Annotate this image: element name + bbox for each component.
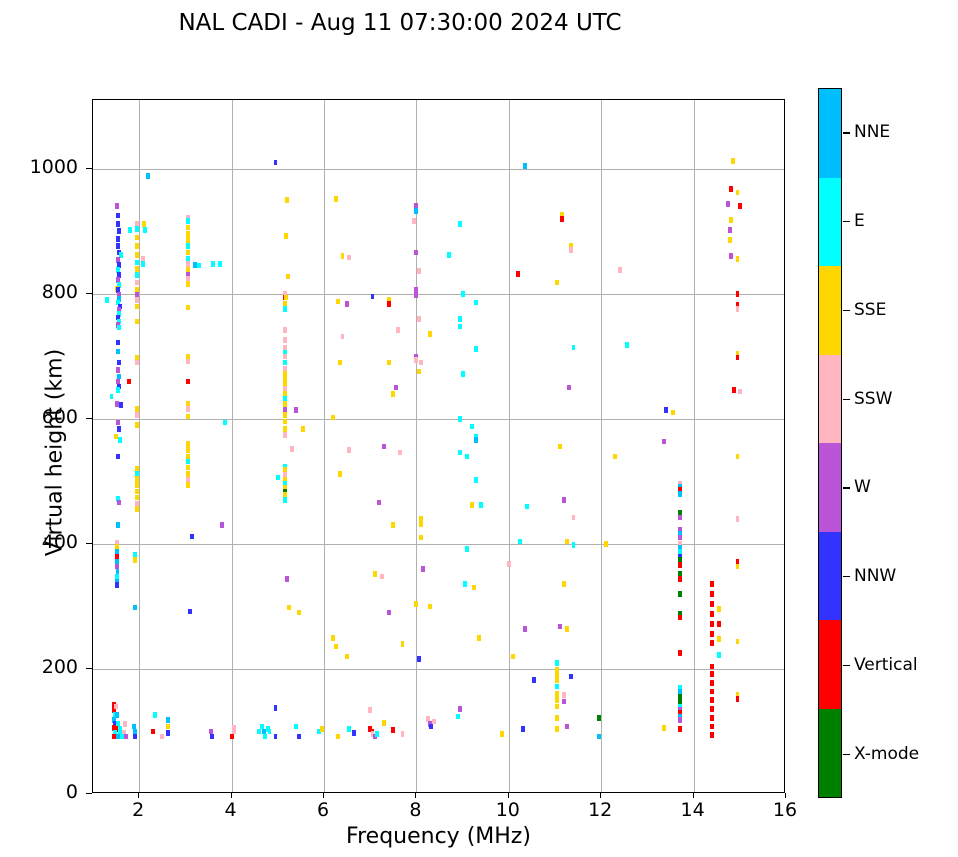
echo-point — [117, 360, 121, 366]
echo-point — [197, 263, 201, 269]
echo-point — [276, 475, 280, 481]
echo-point — [117, 500, 121, 506]
echo-point — [736, 355, 740, 361]
gridline-horizontal — [93, 419, 784, 420]
echo-point — [500, 731, 504, 737]
echo-point — [186, 482, 190, 488]
echo-point — [710, 631, 714, 637]
echo-point — [338, 471, 342, 477]
echo-point — [728, 227, 732, 233]
echo-point — [562, 581, 566, 587]
echo-point — [710, 591, 714, 597]
colorbar — [818, 88, 842, 798]
gridline-vertical — [694, 100, 695, 792]
echo-point — [507, 561, 511, 567]
echo-point — [678, 535, 682, 541]
echo-point — [710, 680, 714, 686]
echo-point — [678, 491, 682, 497]
x-axis-title: Frequency (MHz) — [92, 824, 785, 849]
echo-point — [334, 196, 338, 202]
x-axis-tick — [600, 793, 601, 798]
echo-point — [116, 367, 120, 373]
echo-point — [625, 342, 629, 348]
echo-point — [135, 243, 139, 249]
echo-point — [516, 271, 520, 277]
echo-point — [285, 197, 289, 203]
echo-point — [135, 422, 139, 428]
echo-point — [736, 564, 740, 570]
colorbar-tick — [843, 665, 850, 666]
echo-point — [736, 256, 740, 262]
echo-point — [572, 515, 576, 521]
echo-point — [294, 724, 298, 730]
echo-point — [729, 217, 733, 223]
echo-point — [283, 419, 287, 425]
echo-point — [133, 605, 137, 611]
x-axis-tick — [138, 793, 139, 798]
echo-point — [117, 426, 121, 432]
echo-point — [525, 504, 529, 510]
echo-point — [117, 228, 121, 234]
echo-point — [717, 652, 721, 658]
echo-point — [662, 439, 666, 445]
echo-point — [141, 261, 145, 267]
echo-point — [119, 402, 123, 408]
x-axis-tick — [323, 793, 324, 798]
echo-point — [223, 420, 227, 426]
echo-point — [618, 267, 622, 273]
echo-point — [678, 562, 682, 568]
echo-point — [210, 734, 214, 740]
echo-point — [710, 581, 714, 587]
echo-point — [297, 734, 301, 740]
echo-point — [135, 280, 139, 286]
echo-point — [334, 644, 338, 650]
x-axis-tick-label: 8 — [385, 799, 445, 821]
echo-point — [283, 401, 287, 407]
echo-point — [555, 660, 559, 666]
echo-point — [414, 601, 418, 607]
echo-point — [128, 227, 132, 233]
echo-point — [604, 541, 608, 547]
x-axis-tick-label: 12 — [570, 799, 630, 821]
echo-point — [186, 218, 190, 224]
echo-point — [331, 415, 335, 421]
echo-point — [565, 724, 569, 730]
echo-point — [479, 502, 483, 508]
echo-point — [417, 656, 421, 662]
echo-point — [567, 385, 571, 391]
colorbar-segment-vertical — [819, 620, 841, 709]
echo-point — [401, 731, 405, 737]
echo-point — [151, 729, 155, 735]
echo-point — [371, 294, 375, 300]
colorbar-segment-w — [819, 443, 841, 532]
echo-point — [414, 250, 418, 256]
echo-point — [294, 407, 298, 413]
echo-point — [341, 253, 345, 259]
echo-point — [283, 306, 287, 312]
x-axis-tick-label: 14 — [663, 799, 723, 821]
echo-point — [398, 450, 402, 456]
echo-point — [116, 349, 120, 355]
colorbar-tick — [843, 487, 850, 488]
echo-point — [428, 604, 432, 610]
gridline-horizontal — [93, 669, 784, 670]
x-axis-tick-label: 16 — [755, 799, 815, 821]
colorbar-segment-x-mode — [819, 709, 841, 798]
y-axis-tick — [86, 793, 92, 794]
echo-point — [710, 621, 714, 627]
echo-point — [387, 360, 391, 366]
echo-point — [135, 260, 139, 266]
echo-point — [297, 610, 301, 616]
echo-point — [555, 726, 559, 732]
echo-point — [347, 255, 351, 261]
echo-point — [414, 357, 418, 363]
echo-point — [736, 454, 740, 460]
echo-point — [662, 725, 666, 731]
echo-point — [135, 304, 139, 310]
echo-point — [419, 535, 423, 541]
page-title: NAL CADI - Aug 11 07:30:00 2024 UTC — [0, 10, 800, 36]
echo-point — [736, 639, 740, 645]
echo-point — [391, 391, 395, 397]
gridline-vertical — [324, 100, 325, 792]
echo-point — [562, 699, 566, 705]
echo-point — [283, 327, 287, 333]
echo-point — [153, 712, 157, 718]
echo-point — [555, 677, 559, 683]
echo-point — [301, 426, 305, 432]
echo-point — [518, 539, 522, 545]
echo-point — [419, 360, 423, 366]
echo-point — [283, 337, 287, 343]
echo-point — [135, 506, 139, 512]
echo-point — [731, 158, 735, 164]
echo-point — [146, 173, 150, 179]
echo-point — [562, 692, 566, 698]
echo-point — [188, 609, 192, 615]
echo-point — [257, 729, 261, 735]
x-axis-tick — [415, 793, 416, 798]
echo-point — [419, 521, 423, 527]
echo-point — [738, 389, 742, 395]
echo-point — [613, 454, 617, 460]
colorbar-tick — [843, 576, 850, 577]
echo-point — [465, 546, 469, 552]
echo-point — [710, 671, 714, 677]
echo-point — [597, 734, 601, 740]
echo-point — [678, 717, 682, 723]
echo-point — [320, 726, 324, 732]
echo-point — [373, 571, 377, 577]
echo-point — [417, 316, 421, 322]
echo-point — [116, 522, 120, 528]
echo-point — [387, 301, 391, 307]
echo-point — [284, 233, 288, 239]
echo-point — [283, 354, 287, 360]
echo-point — [456, 714, 460, 720]
echo-point — [116, 387, 120, 393]
colorbar-tick — [843, 754, 850, 755]
echo-point — [230, 734, 234, 740]
echo-point — [274, 160, 278, 166]
ionogram-plot-area — [92, 99, 785, 793]
echo-point — [123, 721, 127, 727]
echo-point — [396, 327, 400, 333]
echo-point — [565, 539, 569, 545]
echo-point — [710, 724, 714, 730]
echo-point — [421, 566, 425, 572]
y-axis-tick — [86, 543, 92, 544]
colorbar-label-ssw: SSW — [854, 389, 892, 409]
echo-point — [345, 301, 349, 307]
echo-point — [458, 221, 462, 227]
echo-point — [391, 727, 395, 733]
echo-point — [472, 585, 476, 591]
echo-point — [678, 515, 682, 521]
echo-point — [186, 261, 190, 267]
echo-point — [458, 706, 462, 712]
echo-point — [572, 542, 576, 548]
echo-point — [116, 243, 120, 249]
echo-point — [268, 729, 272, 735]
echo-point — [417, 369, 421, 375]
echo-point — [135, 495, 139, 501]
x-axis-tick-label: 6 — [293, 799, 353, 821]
echo-point — [474, 477, 478, 483]
echo-point — [562, 497, 566, 503]
echo-point — [193, 262, 197, 268]
echo-point — [283, 432, 287, 438]
colorbar-label-nne: NNE — [854, 122, 890, 142]
echo-point — [470, 424, 474, 430]
echo-point — [414, 208, 418, 214]
echo-point — [274, 734, 278, 740]
echo-point — [458, 324, 462, 330]
echo-point — [135, 266, 139, 272]
echo-point — [521, 726, 525, 732]
echo-point — [135, 476, 139, 482]
echo-point — [105, 297, 109, 303]
echo-point — [463, 581, 467, 587]
echo-point — [710, 732, 714, 738]
gridline-horizontal — [93, 294, 784, 295]
echo-point — [458, 450, 462, 456]
echo-point — [232, 725, 236, 731]
colorbar-tick — [843, 132, 850, 133]
echo-point — [135, 412, 139, 418]
colorbar-segment-nnw — [819, 532, 841, 621]
echo-point — [465, 454, 469, 460]
echo-point — [211, 261, 215, 267]
echo-point — [135, 226, 139, 232]
echo-point — [135, 489, 139, 495]
echo-point — [470, 502, 474, 508]
echo-point — [127, 379, 131, 385]
echo-point — [555, 684, 559, 690]
echo-point — [186, 379, 190, 385]
echo-point — [432, 719, 436, 725]
echo-point — [135, 252, 139, 258]
echo-point — [186, 406, 190, 412]
echo-point — [116, 340, 120, 346]
echo-point — [710, 689, 714, 695]
y-axis-tick — [86, 293, 92, 294]
echo-point — [678, 615, 682, 621]
colorbar-label-sse: SSE — [854, 300, 886, 320]
echo-point — [555, 704, 559, 710]
echo-point — [710, 640, 714, 646]
echo-point — [218, 261, 222, 267]
echo-point — [135, 406, 139, 412]
echo-point — [736, 306, 740, 312]
echo-point — [347, 726, 351, 732]
echo-point — [447, 252, 451, 258]
echo-point — [560, 216, 564, 222]
echo-point — [115, 203, 119, 209]
echo-point — [186, 231, 190, 237]
echo-point — [283, 426, 287, 432]
echo-point — [116, 420, 120, 426]
x-axis-tick — [231, 793, 232, 798]
echo-point — [429, 724, 433, 730]
echo-point — [133, 734, 137, 740]
echo-point — [710, 601, 714, 607]
echo-point — [286, 274, 290, 280]
echo-point — [555, 280, 559, 286]
echo-point — [461, 371, 465, 377]
echo-point — [135, 482, 139, 488]
colorbar-tick — [843, 221, 850, 222]
echo-point — [186, 447, 190, 453]
x-axis-tick — [508, 793, 509, 798]
echo-point — [186, 471, 190, 477]
echo-point — [220, 522, 224, 528]
echo-point — [186, 225, 190, 231]
gridline-vertical — [601, 100, 602, 792]
echo-point — [336, 734, 340, 740]
echo-point — [186, 250, 190, 256]
echo-point — [135, 235, 139, 241]
y-axis-tick — [86, 168, 92, 169]
echo-point — [710, 706, 714, 712]
echo-point — [186, 359, 190, 365]
echo-point — [569, 247, 573, 253]
echo-point — [368, 707, 372, 713]
echo-point — [341, 334, 345, 340]
echo-point — [114, 704, 118, 710]
echo-point — [732, 387, 736, 393]
echo-point — [558, 624, 562, 630]
echo-point — [382, 444, 386, 450]
echo-point — [394, 385, 398, 391]
echo-point — [565, 626, 569, 632]
gridline-vertical — [139, 100, 140, 792]
echo-point — [352, 730, 356, 736]
echo-point — [736, 190, 740, 196]
echo-point — [186, 305, 190, 311]
echo-point — [736, 516, 740, 522]
echo-point — [331, 635, 335, 641]
echo-point — [717, 636, 721, 642]
echo-point — [391, 522, 395, 528]
colorbar-segment-ssw — [819, 355, 841, 444]
colorbar-label-e: E — [854, 211, 865, 231]
colorbar-label-nnw: NNW — [854, 566, 896, 586]
echo-point — [133, 557, 137, 563]
echo-point — [569, 674, 573, 680]
echo-point — [664, 407, 668, 413]
x-axis-tick-label: 4 — [201, 799, 261, 821]
echo-point — [678, 726, 682, 732]
echo-point — [736, 291, 740, 297]
echo-point — [116, 236, 120, 242]
echo-point — [678, 591, 682, 597]
echo-point — [274, 705, 278, 711]
colorbar-segment-nne — [819, 89, 841, 178]
echo-point — [377, 500, 381, 506]
echo-point — [474, 300, 478, 306]
echo-point — [597, 715, 601, 721]
echo-point — [558, 444, 562, 450]
echo-point — [118, 437, 122, 443]
echo-point — [572, 345, 576, 351]
echo-point — [166, 730, 170, 736]
x-axis-tick — [785, 793, 786, 798]
x-axis-tick-label: 2 — [108, 799, 168, 821]
echo-point — [555, 697, 559, 703]
echo-point — [284, 295, 288, 301]
echo-point — [290, 446, 294, 452]
echo-point — [387, 610, 391, 616]
echo-point — [347, 447, 351, 453]
echo-point — [458, 316, 462, 322]
echo-point — [283, 412, 287, 418]
echo-point — [116, 454, 120, 460]
echo-point — [717, 606, 721, 612]
echo-point — [678, 576, 682, 582]
colorbar-label-x-mode: X-mode — [854, 744, 919, 764]
echo-point — [160, 734, 164, 740]
echo-point — [135, 360, 139, 366]
echo-point — [729, 186, 733, 192]
gridline-vertical — [232, 100, 233, 792]
x-axis-tick-label: 10 — [478, 799, 538, 821]
y-axis-tick — [86, 668, 92, 669]
echo-point — [738, 203, 742, 209]
y-axis-tick — [86, 418, 92, 419]
echo-point — [380, 574, 384, 580]
echo-point — [717, 621, 721, 627]
echo-point — [417, 268, 421, 274]
colorbar-label-w: W — [854, 477, 871, 497]
echo-point — [477, 635, 481, 641]
echo-point — [375, 731, 379, 737]
echo-point — [729, 253, 733, 259]
echo-point — [382, 720, 386, 726]
echo-point — [511, 654, 515, 660]
echo-point — [135, 297, 139, 303]
echo-point — [338, 360, 342, 366]
colorbar-segment-sse — [819, 266, 841, 355]
echo-point — [166, 717, 170, 723]
echo-point — [710, 611, 714, 617]
echo-point — [135, 319, 139, 325]
echo-point — [523, 626, 527, 632]
echo-point — [678, 650, 682, 656]
